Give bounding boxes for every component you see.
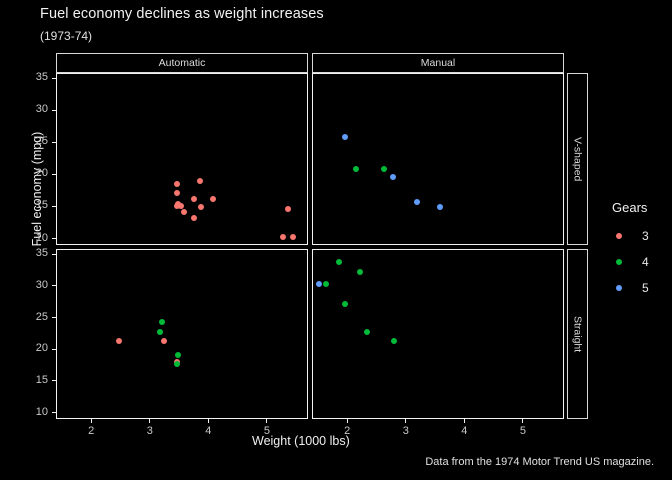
x-tick-mark (91, 419, 92, 423)
x-tick-mark (149, 419, 150, 423)
x-tick-label: 5 (257, 425, 277, 437)
x-tick-label: 4 (198, 425, 218, 437)
legend-item-5[interactable]: 5 (610, 275, 649, 301)
y-tick-label: 10 (22, 232, 48, 244)
x-tick-label: 3 (140, 425, 160, 437)
y-tick-label: 30 (22, 103, 48, 115)
legend-item-label: 3 (642, 229, 649, 243)
x-tick-mark (522, 419, 523, 423)
x-tick-mark (464, 419, 465, 423)
x-tick-label: 2 (337, 425, 357, 437)
axis-ticks-layer: 10152025303510152025303523452345 (0, 0, 672, 480)
y-tick-mark (52, 78, 56, 79)
y-tick-mark (52, 317, 56, 318)
legend-item-label: 4 (642, 255, 649, 269)
y-tick-label: 25 (22, 311, 48, 323)
legend-item-3[interactable]: 3 (610, 223, 649, 249)
legend-dot-icon (616, 259, 622, 265)
legend-title: Gears (612, 200, 649, 215)
x-tick-label: 4 (454, 425, 474, 437)
legend-key-icon (610, 253, 628, 271)
y-tick-mark (52, 110, 56, 111)
legend-item-label: 5 (642, 281, 649, 295)
x-tick-mark (347, 419, 348, 423)
legend-item-4[interactable]: 4 (610, 249, 649, 275)
y-tick-mark (52, 174, 56, 175)
chart-root: Fuel economy declines as weight increase… (0, 0, 672, 480)
y-tick-mark (52, 412, 56, 413)
y-tick-mark (52, 285, 56, 286)
x-tick-label: 3 (396, 425, 416, 437)
y-tick-mark (52, 254, 56, 255)
y-tick-label: 25 (22, 135, 48, 147)
y-tick-label: 20 (22, 167, 48, 179)
y-tick-mark (52, 238, 56, 239)
legend-dot-icon (616, 233, 622, 239)
x-tick-label: 5 (513, 425, 533, 437)
y-tick-mark (52, 349, 56, 350)
legend-items: 345 (610, 223, 649, 301)
y-tick-label: 10 (22, 406, 48, 418)
y-tick-label: 15 (22, 374, 48, 386)
y-tick-label: 15 (22, 199, 48, 211)
y-tick-mark (52, 380, 56, 381)
x-tick-mark (405, 419, 406, 423)
y-tick-label: 30 (22, 279, 48, 291)
legend-key-icon (610, 227, 628, 245)
legend-key-icon (610, 279, 628, 297)
y-tick-label: 35 (22, 247, 48, 259)
legend-dot-icon (616, 285, 622, 291)
y-tick-mark (52, 142, 56, 143)
x-tick-mark (208, 419, 209, 423)
y-tick-label: 35 (22, 71, 48, 83)
y-tick-mark (52, 206, 56, 207)
legend: Gears 345 (610, 200, 649, 301)
x-tick-mark (266, 419, 267, 423)
y-tick-label: 20 (22, 342, 48, 354)
x-tick-label: 2 (81, 425, 101, 437)
